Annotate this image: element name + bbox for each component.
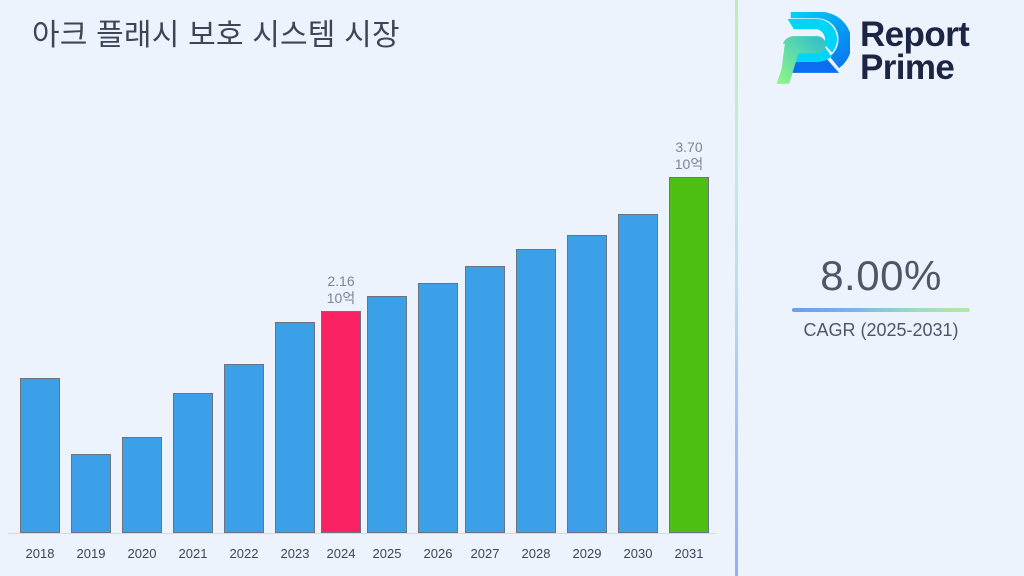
bar-2027[interactable] [465, 266, 505, 533]
bar-2020[interactable] [122, 437, 162, 533]
x-tick-2031: 2031 [655, 546, 723, 561]
bar-2025[interactable] [367, 296, 407, 533]
bar-2018[interactable] [20, 378, 60, 533]
brand-logo: Report Prime [772, 12, 969, 90]
x-axis-line [8, 533, 716, 534]
cagr-caption: CAGR (2025-2031) [738, 318, 1024, 342]
cagr-value: 8.00% [738, 252, 1024, 300]
bar-2031[interactable] [669, 177, 709, 533]
bar-2024[interactable] [321, 311, 361, 533]
brand-name-line-2: Prime [860, 51, 969, 84]
chart-panel: 아크 플래시 보호 시스템 시장 20182019202020212022202… [0, 0, 736, 576]
bar-2028[interactable] [516, 249, 556, 533]
bar-2021[interactable] [173, 393, 213, 533]
brand-wordmark: Report Prime [860, 18, 969, 84]
bar-2029[interactable] [567, 235, 607, 533]
report-prime-logo-icon [772, 12, 850, 90]
bar-2026[interactable] [418, 283, 458, 533]
cagr-divider-rule [792, 308, 970, 312]
brand-panel: Report Prime 8.00% CAGR (2025-2031) [738, 0, 1024, 576]
bar-2022[interactable] [224, 364, 264, 533]
cagr-block: 8.00% CAGR (2025-2031) [738, 252, 1024, 342]
bar-2030[interactable] [618, 214, 658, 533]
brand-name-line-1: Report [860, 18, 969, 51]
bar-chart-plot-area: 2018201920202021202220232.16 10억20242025… [0, 0, 736, 576]
bar-value-label-2024: 2.16 10억 [307, 273, 375, 307]
bar-2019[interactable] [71, 454, 111, 533]
chart-page: 아크 플래시 보호 시스템 시장 20182019202020212022202… [0, 0, 1024, 576]
bar-value-label-2031: 3.70 10억 [655, 139, 723, 173]
bar-2023[interactable] [275, 322, 315, 533]
